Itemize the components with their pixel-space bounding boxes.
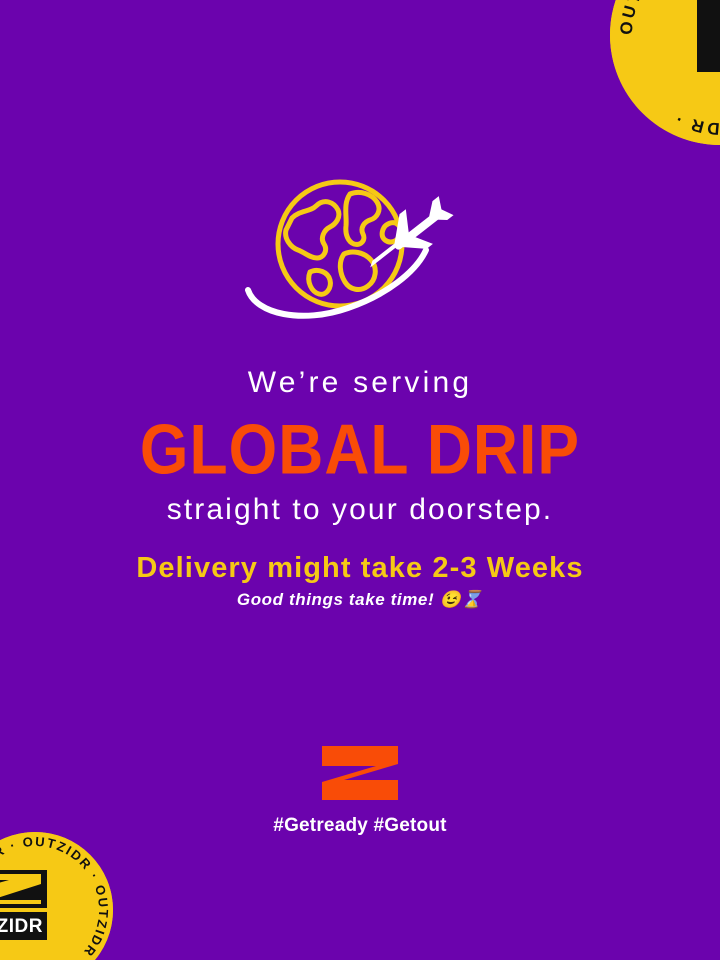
globe-airplane-icon: [0, 172, 720, 332]
globe-continents: [286, 192, 401, 294]
seal-inner-block-bottom-left: OUTZIDR: [0, 870, 47, 940]
tagline-text: Good things take time! 😉⌛: [0, 590, 720, 610]
copy-block: We’re serving GLOBAL DRIP straight to yo…: [0, 366, 720, 526]
promo-poster: OUTZIDR · OUTZIDR · OUTZIDR · OUTZIDR ·: [0, 0, 720, 960]
airplane-icon: [355, 188, 459, 283]
seal-wordmark-bottom-left: OUTZIDR: [0, 916, 43, 937]
eyebrow-text: We’re serving: [0, 366, 720, 400]
outzidr-z-logo: [320, 744, 400, 807]
outzidr-seal-top-right: OUTZIDR · OUTZIDR · OUTZIDR · OUTZIDR ·: [610, 0, 720, 145]
outzidr-seal-bottom-left: OUTZIDR · OUTZIDR · OUTZIDR · OUTZIDR · …: [0, 832, 113, 960]
seal-z-mark-top-right: [697, 0, 720, 72]
subline-text: straight to your doorstep.: [0, 493, 720, 527]
footer-block: #Getready #Getout: [0, 744, 720, 837]
headline-text: GLOBAL DRIP: [0, 412, 720, 486]
delivery-notice-text: Delivery might take 2-3 Weeks: [0, 552, 720, 585]
globe-outline: [278, 182, 402, 306]
